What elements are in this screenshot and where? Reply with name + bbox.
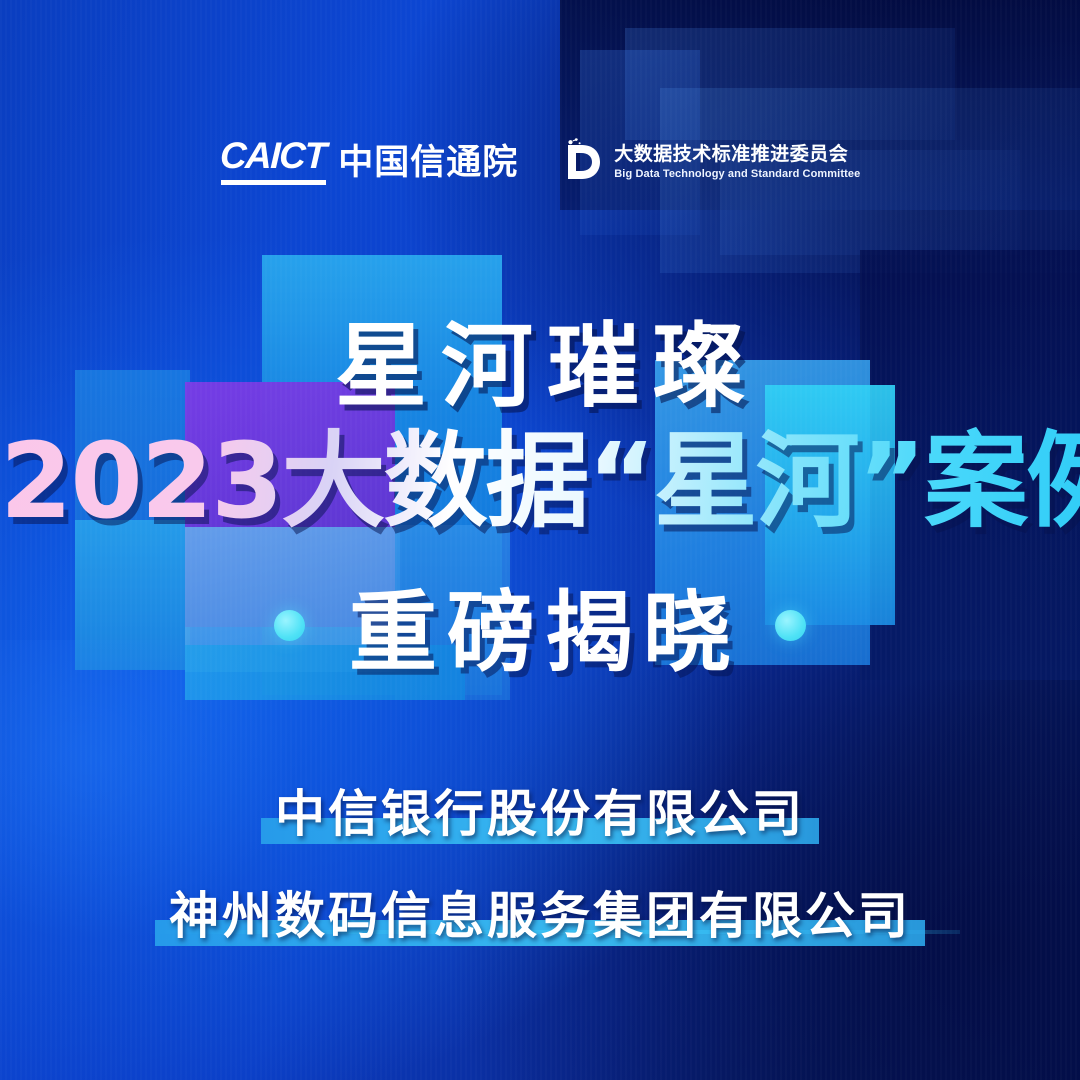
cyan-dot-right-icon [775,610,806,641]
committee-logo: 大数据技术标准推进委员会 Big Data Technology and Sta… [562,137,860,183]
winner-item: 中信银行股份有限公司 [261,772,819,848]
sparkle-icon [569,138,581,144]
winner-item: 神州数码信息服务集团有限公司 [155,874,925,950]
committee-chinese-name: 大数据技术标准推进委员会 [614,139,860,166]
caict-abbr-text: CAICT [219,135,326,177]
title-line-3-row: 重磅揭晓 [0,562,1080,689]
cyan-dot-left-icon [274,610,305,641]
committee-d-icon [562,137,602,183]
title-line-2: 2023大数据“星河”案例 [0,396,1080,547]
promo-poster: CAICT 中国信通院 大数据技术标准推进委员会 Bi [0,0,1080,1080]
caict-logo: CAICT 中国信通院 [220,134,519,185]
caict-wordmark: CAICT [220,135,326,185]
caict-chinese-name: 中国信通院 [338,134,518,185]
winner-name: 中信银行股份有限公司 [275,785,805,843]
caict-underline-rule [221,180,327,185]
winner-list: 中信银行股份有限公司 神州数码信息服务集团有限公司 [0,772,1080,950]
title-line-3: 重磅揭晓 [339,562,741,689]
committee-text-block: 大数据技术标准推进委员会 Big Data Technology and Sta… [614,139,860,180]
committee-english-name: Big Data Technology and Standard Committ… [614,168,860,180]
winner-name: 神州数码信息服务集团有限公司 [169,887,911,945]
logo-header: CAICT 中国信通院 大数据技术标准推进委员会 Bi [0,134,1080,185]
